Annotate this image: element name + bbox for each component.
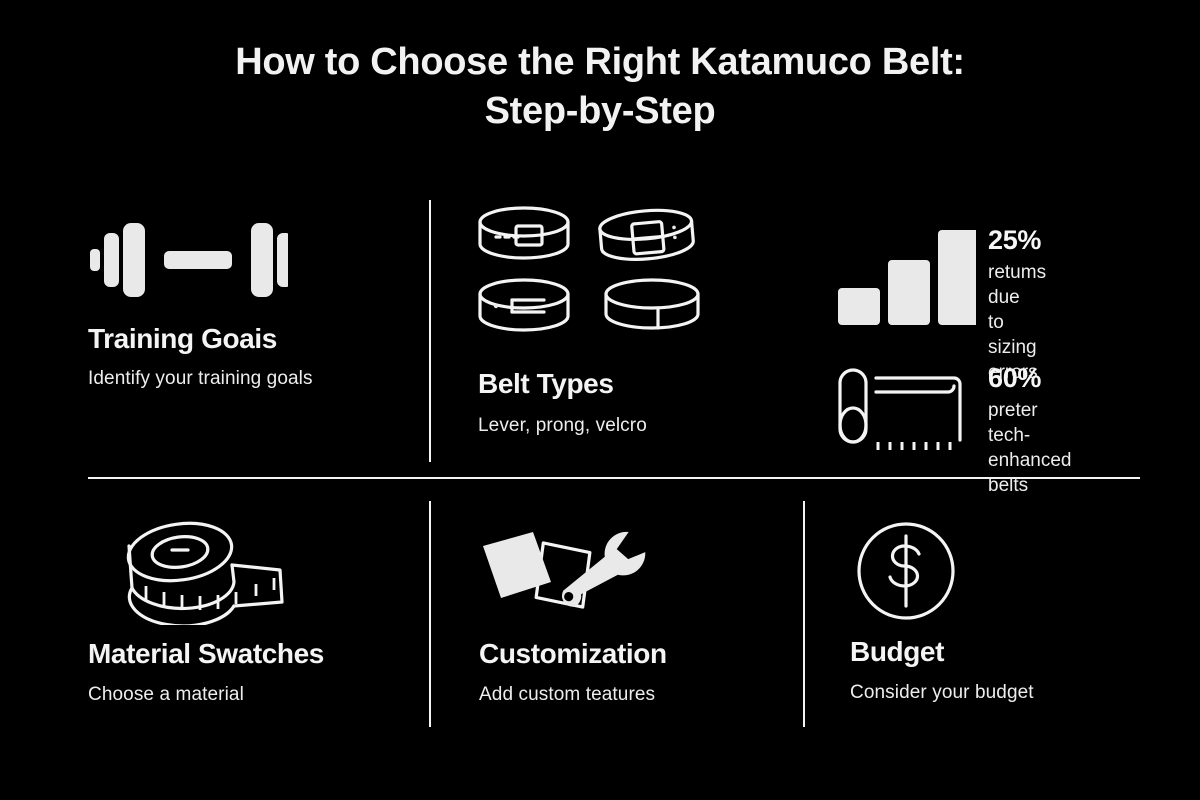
stat-percent-tech-belts: 60% bbox=[988, 364, 1041, 392]
dumbbell-icon bbox=[88, 205, 288, 315]
cell-subtitle-material-swatches: Choose a material bbox=[88, 684, 244, 706]
belt-types-icon bbox=[472, 200, 722, 340]
divider-horizontal-middle bbox=[88, 477, 1140, 479]
cell-heading-belt-types: Belt Types bbox=[478, 368, 614, 400]
dollar-circle-icon bbox=[853, 518, 959, 624]
wrench-icon bbox=[559, 520, 651, 624]
divider-vertical-bottom-left bbox=[429, 501, 431, 727]
belt-lever-icon bbox=[480, 208, 568, 258]
cell-heading-training-goals: Training Goais bbox=[88, 323, 277, 355]
belt-overlap-icon bbox=[480, 280, 568, 330]
cell-subtitle-budget: Consider your budget bbox=[850, 682, 1034, 704]
divider-vertical-bottom-right bbox=[803, 501, 805, 727]
bar-chart-icon bbox=[836, 222, 976, 327]
page-title: How to Choose the Right Katamuco Belt: S… bbox=[0, 38, 1200, 135]
stat-percent-returns: 25% bbox=[988, 226, 1041, 254]
belt-prong-icon bbox=[599, 207, 695, 263]
cell-subtitle-training-goals: Identify your training goals bbox=[88, 368, 313, 390]
measuring-tape-icon bbox=[836, 366, 966, 458]
page-title-line-2: Step-by-Step bbox=[0, 87, 1200, 136]
cell-subtitle-customization: Add custom teatures bbox=[479, 684, 655, 706]
infographic-canvas: How to Choose the Right Katamuco Belt: S… bbox=[0, 0, 1200, 800]
swatches-wrench-icon bbox=[479, 520, 674, 628]
cell-subtitle-belt-types: Lever, prong, velcro bbox=[478, 415, 647, 437]
cell-heading-budget: Budget bbox=[850, 636, 944, 668]
cell-heading-customization: Customization bbox=[479, 638, 667, 670]
tape-measure-roll-icon bbox=[122, 520, 297, 625]
cell-heading-material-swatches: Material Swatches bbox=[88, 638, 324, 670]
divider-vertical-top bbox=[429, 200, 431, 462]
belt-velcro-icon bbox=[606, 280, 698, 328]
stat-description-tech-belts: preter tech- enhanced belts bbox=[988, 398, 1071, 498]
page-title-line-1: How to Choose the Right Katamuco Belt: bbox=[0, 38, 1200, 87]
